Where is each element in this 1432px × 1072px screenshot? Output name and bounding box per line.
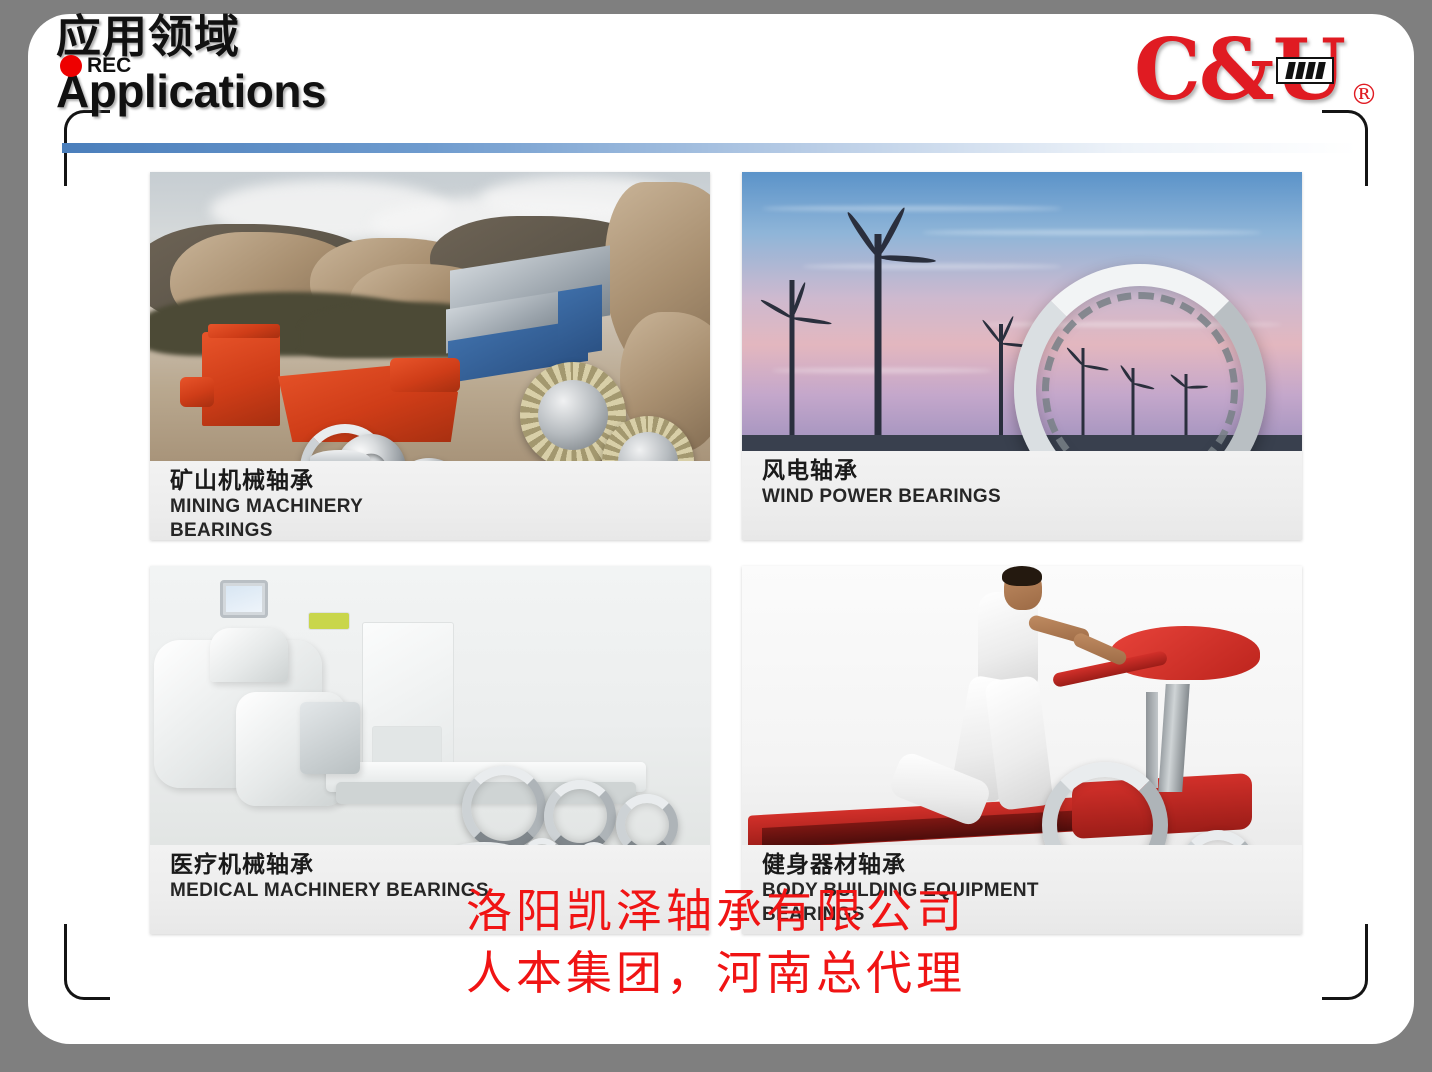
application-card-mining[interactable]: 矿山机械轴承 MINING MACHINERY BEARINGS xyxy=(150,172,710,540)
slide-canvas: 应用领域 Applications REC C&U ® xyxy=(0,0,1432,1072)
brand-logo: C&U ® xyxy=(1134,26,1394,126)
record-label: REC xyxy=(87,54,131,78)
card-title-en-1: MINING MACHINERY xyxy=(170,495,710,519)
card-title-en-2: BEARINGS xyxy=(170,519,710,540)
mining-machinery-photo xyxy=(150,172,710,461)
application-card-medical[interactable]: 医疗机械轴承 MEDICAL MACHINERY BEARINGS xyxy=(150,566,710,934)
body-building-equipment-photo xyxy=(742,566,1302,845)
application-card-body-building[interactable]: 健身器材轴承 BODY BUILDING EQUIPMENT BEARINGS xyxy=(742,566,1302,934)
corner-bracket-bottom-left xyxy=(64,924,110,1000)
recording-indicator: REC xyxy=(60,54,131,78)
medical-machinery-photo xyxy=(150,566,710,845)
card-title-cn: 风电轴承 xyxy=(762,457,1302,485)
card-title-en-1: MEDICAL MACHINERY BEARINGS xyxy=(170,879,710,903)
card-caption-medical: 医疗机械轴承 MEDICAL MACHINERY BEARINGS xyxy=(150,845,710,934)
card-title-cn: 医疗机械轴承 xyxy=(170,851,710,879)
card-title-en-1: BODY BUILDING EQUIPMENT xyxy=(762,879,1302,903)
card-title-en-2: BEARINGS xyxy=(762,903,1302,927)
card-title-cn: 健身器材轴承 xyxy=(762,851,1302,879)
card-caption-body-building: 健身器材轴承 BODY BUILDING EQUIPMENT BEARINGS xyxy=(742,845,1302,934)
card-title-en-1: WIND POWER BEARINGS xyxy=(762,485,1302,509)
card-caption-wind-power: 风电轴承 WIND POWER BEARINGS xyxy=(742,451,1302,540)
header-divider xyxy=(62,143,1358,153)
wind-power-photo xyxy=(742,172,1302,451)
record-dot-icon xyxy=(60,55,82,77)
page-title-cn: 应用领域 xyxy=(56,10,756,64)
page-title-en: Applications xyxy=(56,64,756,118)
bearing-roller-icon xyxy=(1276,57,1334,84)
card-caption-mining: 矿山机械轴承 MINING MACHINERY BEARINGS xyxy=(150,461,710,540)
card-title-cn: 矿山机械轴承 xyxy=(170,467,710,495)
page-title: 应用领域 Applications xyxy=(56,10,756,118)
corner-bracket-bottom-right xyxy=(1322,924,1368,1000)
applications-grid: 矿山机械轴承 MINING MACHINERY BEARINGS xyxy=(150,172,1302,934)
application-card-wind-power[interactable]: 风电轴承 WIND POWER BEARINGS xyxy=(742,172,1302,540)
registered-trademark-icon: ® xyxy=(1350,78,1378,111)
